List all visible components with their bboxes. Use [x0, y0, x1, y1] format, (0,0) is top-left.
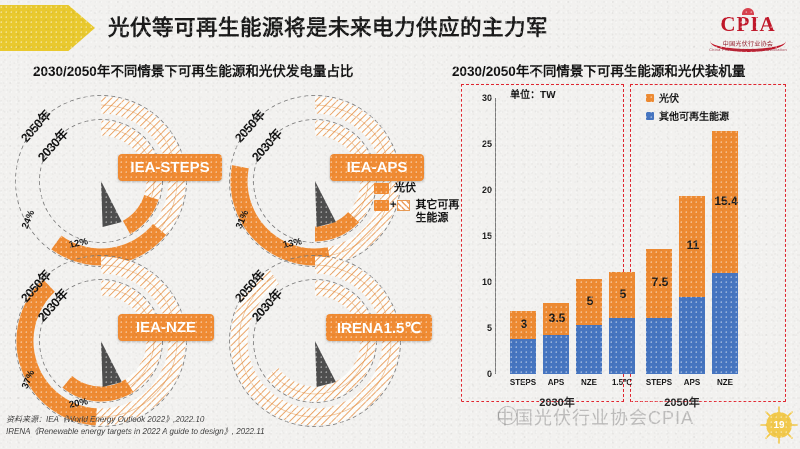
orange-swatch-icon	[374, 200, 389, 211]
page-title: 光伏等可再生能源将是未来电力供应的主力军	[108, 11, 548, 42]
bar-value-label: 15.4	[713, 194, 739, 208]
cpia-logo-subtitle-en: China Photovoltaic Industry Association	[704, 47, 792, 52]
legend-pv-label: 光伏	[659, 90, 679, 105]
donut-chart-iea-nze: 2050年2030年37%20%	[8, 248, 194, 434]
bar-3	[609, 84, 635, 374]
donut-scenario-label-iea-steps: IEA-STEPS	[118, 154, 222, 181]
legend-other-label: 其他可再生能源	[659, 108, 729, 123]
page-header: 光伏等可再生能源将是未来电力供应的主力军 CPIA 中国光伏行业协会 China…	[0, 0, 800, 56]
cpia-logo: CPIA 中国光伏行业协会 China Photovoltaic Industr…	[704, 4, 792, 52]
bar-value-label: 3.5	[544, 311, 570, 325]
orange-swatch-icon	[374, 183, 389, 194]
bar-value-label: 5	[610, 287, 636, 301]
bar-segment-other	[510, 339, 536, 374]
header-chevron-accent	[0, 5, 95, 51]
legend-item-pv: 光伏	[646, 90, 729, 105]
y-tick-label: 30	[466, 93, 492, 103]
donut-chart-irena1.5c: 2050年2030年	[222, 248, 408, 434]
bar-chart-legend: 光伏 其他可再生能源	[646, 90, 729, 126]
bar-value-label: 11	[680, 238, 706, 252]
bar-segment-other	[679, 297, 705, 374]
hatched-swatch-icon	[397, 200, 410, 211]
source-line-1: 资料来源：IEA《World Energy Outlook 2022》,2022…	[6, 414, 265, 426]
donut-charts-area: 2050年2030年24%12%IEA-STEPS2050年2030年31%13…	[0, 82, 448, 402]
installed-capacity-bar-chart: 051015202530 单位：TW 3STEPS3.5APS5NZE51.5℃…	[452, 84, 796, 402]
page-number: 19	[766, 412, 792, 438]
bar-segment-other	[609, 318, 635, 374]
y-tick-label: 20	[466, 185, 492, 195]
donut-scenario-label-irena1.5c: IRENA1.5℃	[326, 314, 432, 341]
donut-chart-iea-aps: 2050年2030年31%13%	[222, 88, 408, 274]
y-tick-label: 5	[466, 323, 492, 333]
bar-segment-other	[543, 335, 569, 374]
bar-2	[576, 84, 602, 374]
bar-group-label: 2030年	[527, 394, 587, 410]
donut-scenario-label-iea-aps: IEA-APS	[330, 154, 424, 181]
y-tick-label: 0	[466, 369, 492, 379]
plus-icon: +	[390, 199, 396, 211]
y-tick-label: 15	[466, 231, 492, 241]
y-axis-ticks: 051015202530	[462, 84, 492, 402]
bar-segment-other	[646, 318, 672, 374]
legend-item-other: 其他可再生能源	[646, 108, 729, 123]
donut-legend: 光伏 + 其它可再生能源	[374, 182, 466, 229]
chart-plot-area: 051015202530 单位：TW 3STEPS3.5APS5NZE51.5℃…	[452, 84, 796, 402]
blue-swatch-icon	[646, 112, 654, 120]
bar-group-label: 2050年	[652, 394, 712, 410]
orange-swatch-icon	[646, 94, 654, 102]
donut-legend-pv-label: 光伏	[394, 182, 416, 195]
bar-value-label: 7.5	[647, 275, 673, 289]
source-note: 资料来源：IEA《World Energy Outlook 2022》,2022…	[6, 414, 265, 438]
y-tick-label: 10	[466, 277, 492, 287]
bar-6	[712, 84, 738, 374]
x-tick-label: 1.5℃	[602, 378, 642, 387]
watermark-badge-icon	[498, 406, 517, 425]
source-line-2: IRENA《Renewable energy targets in 2022 A…	[6, 426, 265, 438]
bar-4	[646, 84, 672, 374]
bar-1	[543, 84, 569, 374]
bar-5	[679, 84, 705, 374]
donut-chart-iea-steps: 2050年2030年24%12%	[8, 88, 194, 274]
bar-segment-other	[576, 325, 602, 374]
bar-segment-other	[712, 273, 738, 374]
donut-legend-item-pv: 光伏	[374, 182, 466, 195]
bar-value-label: 5	[577, 294, 603, 308]
y-tick-label: 25	[466, 139, 492, 149]
donut-legend-other-label: 其它可再生能源	[415, 199, 466, 225]
y-axis-line	[495, 98, 496, 374]
bar-value-label: 3	[511, 317, 537, 331]
donut-scenario-label-iea-nze: IEA-NZE	[118, 314, 214, 341]
right-section-heading: 2030/2050年不同情景下可再生能源和光伏装机量	[452, 60, 745, 80]
x-tick-label: NZE	[705, 378, 745, 387]
donut-legend-item-other: + 其它可再生能源	[374, 199, 466, 225]
left-section-heading: 2030/2050年不同情景下可再生能源和光伏发电量占比	[33, 60, 353, 80]
